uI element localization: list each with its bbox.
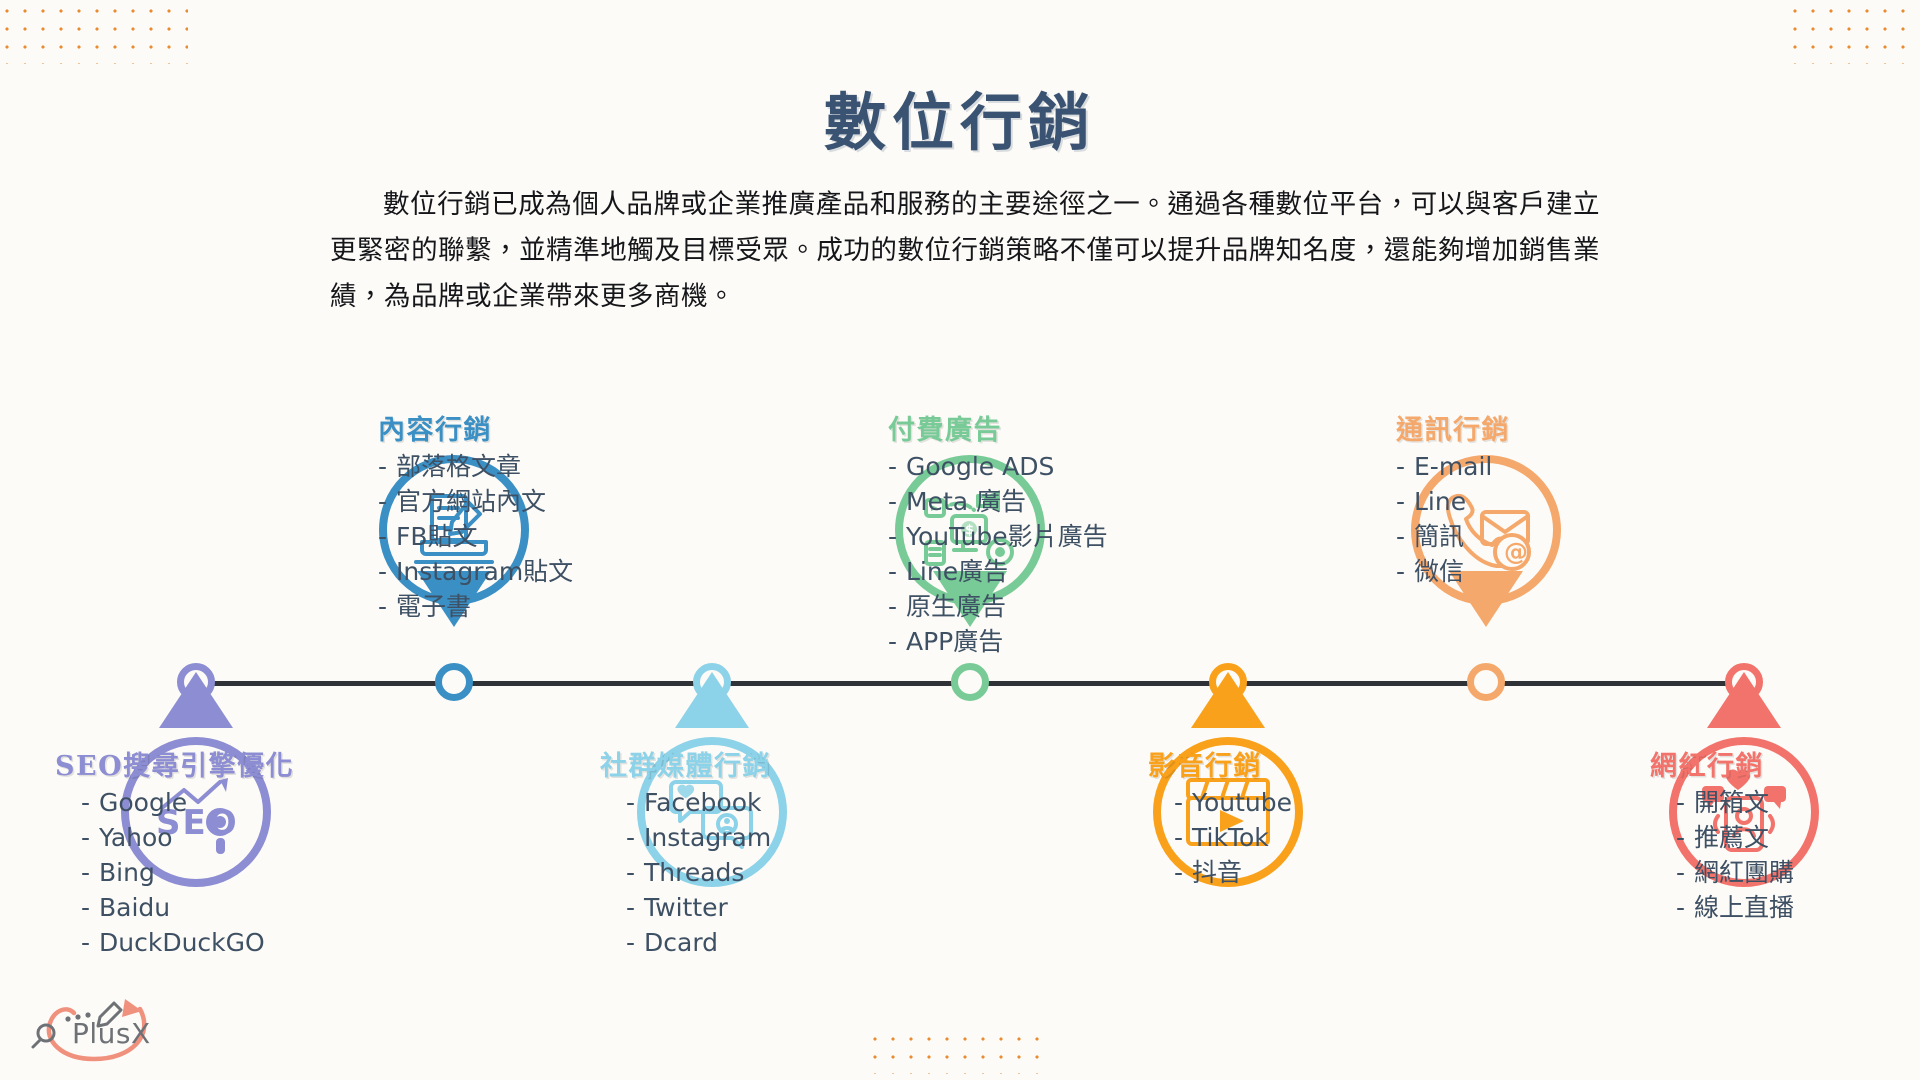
bullet-dash-icon: - [1174,855,1192,890]
bullet-dash-icon: - [81,925,99,960]
list-item: -Bing [81,855,325,890]
list-item: -Yahoo [81,820,325,855]
list-item-label: Instagram [644,823,771,852]
plusx-logo-text: PlusX [72,1017,151,1050]
list-item: -線上直播 [1676,890,1920,925]
list-item: -Google ADS [888,449,1158,484]
list-item: -APP廣告 [888,624,1158,659]
bullet-dash-icon: - [626,890,644,925]
list-item-label: Google ADS [906,452,1054,481]
bullet-dash-icon: - [1676,890,1694,925]
list-item-label: Threads [644,858,744,887]
list-item-label: Baidu [99,893,170,922]
bullet-dash-icon: - [81,820,99,855]
list-item-label: Google [99,788,187,817]
section-list-social: -Facebook-Instagram-Threads-Twitter-Dcar… [600,785,870,960]
list-item: -Meta 廣告 [888,484,1158,519]
list-item-label: Youtube [1192,788,1292,817]
section-list-influencer: -開箱文-推薦文-網紅團購-線上直播 [1650,785,1920,925]
timeline-node-paidads [951,663,989,701]
list-item-label: 推薦文 [1694,823,1769,852]
decorative-dot-grid-top-right [1786,2,1910,64]
list-item: -簡訊 [1396,519,1666,554]
list-item-label: 簡訊 [1414,522,1464,551]
list-item: -官方網站內文 [378,484,648,519]
list-item-label: Instagram貼文 [396,557,573,586]
bullet-dash-icon: - [888,624,906,659]
list-item: -Dcard [626,925,870,960]
list-item-label: Line [1414,487,1466,516]
list-item: -Line [1396,484,1666,519]
bullet-dash-icon: - [626,925,644,960]
list-item: -Line廣告 [888,554,1158,589]
bullet-dash-icon: - [378,484,396,519]
marker-tail-social [675,672,749,728]
bullet-dash-icon: - [81,890,99,925]
section-influencer: 網紅行銷-開箱文-推薦文-網紅團購-線上直播 [1650,744,1920,925]
section-video: 影音行銷-Youtube-TikTok-抖音 [1148,744,1418,890]
bullet-dash-icon: - [626,855,644,890]
list-item-label: 部落格文章 [396,452,521,481]
bullet-dash-icon: - [626,820,644,855]
bullet-dash-icon: - [1174,785,1192,820]
list-item: -微信 [1396,554,1666,589]
bullet-dash-icon: - [1396,554,1414,589]
list-item-label: Meta 廣告 [906,487,1026,516]
list-item-label: Twitter [644,893,728,922]
bullet-dash-icon: - [378,554,396,589]
bullet-dash-icon: - [888,519,906,554]
timeline-node-content [435,663,473,701]
list-item: -原生廣告 [888,589,1158,624]
section-list-content: -部落格文章-官方網站內文-FB貼文-Instagram貼文-電子書 [378,449,648,624]
list-item: -Facebook [626,785,870,820]
list-item-label: Dcard [644,928,718,957]
bullet-dash-icon: - [81,855,99,890]
bullet-dash-icon: - [1676,855,1694,890]
list-item: -YouTube影片廣告 [888,519,1158,554]
list-item: -Instagram貼文 [378,554,648,589]
bullet-dash-icon: - [888,484,906,519]
marker-tail-seo [159,672,233,728]
list-item-label: FB貼文 [396,522,478,551]
bullet-dash-icon: - [1396,484,1414,519]
section-list-video: -Youtube-TikTok-抖音 [1148,785,1418,890]
list-item-label: APP廣告 [906,627,1003,656]
bullet-dash-icon: - [626,785,644,820]
decorative-dot-grid-top-left [0,2,188,64]
bullet-dash-icon: - [888,589,906,624]
list-item: -Youtube [1174,785,1418,820]
section-list-messaging: -E-mail-Line-簡訊-微信 [1396,449,1666,589]
list-item-label: 抖音 [1192,858,1242,887]
list-item: -部落格文章 [378,449,648,484]
page-title: 數位行銷 [0,72,1920,162]
section-title-social: 社群媒體行銷 [600,744,870,783]
section-content: 內容行銷-部落格文章-官方網站內文-FB貼文-Instagram貼文-電子書 [378,408,648,624]
list-item: -Twitter [626,890,870,925]
list-item: -FB貼文 [378,519,648,554]
section-messaging: 通訊行銷-E-mail-Line-簡訊-微信 [1396,408,1666,589]
list-item: -Baidu [81,890,325,925]
section-list-paidads: -Google ADS-Meta 廣告-YouTube影片廣告-Line廣告-原… [888,449,1158,659]
section-title-video: 影音行銷 [1148,744,1418,783]
list-item: -Threads [626,855,870,890]
section-title-influencer: 網紅行銷 [1650,744,1920,783]
list-item-label: E-mail [1414,452,1492,481]
bullet-dash-icon: - [1396,449,1414,484]
list-item: -TikTok [1174,820,1418,855]
list-item-label: Line廣告 [906,557,1008,586]
bullet-dash-icon: - [378,449,396,484]
section-social: 社群媒體行銷-Facebook-Instagram-Threads-Twitte… [600,744,870,960]
section-seo: SEO搜尋引擎優化-Google-Yahoo-Bing-Baidu-DuckDu… [55,744,325,960]
bullet-dash-icon: - [378,589,396,624]
bullet-dash-icon: - [888,449,906,484]
list-item: -電子書 [378,589,648,624]
list-item-label: 開箱文 [1694,788,1769,817]
list-item-label: Bing [99,858,155,887]
plusx-logo: PlusX [22,995,172,1067]
bullet-dash-icon: - [81,785,99,820]
bullet-dash-icon: - [1174,820,1192,855]
intro-paragraph: 數位行銷已成為個人品牌或企業推廣產品和服務的主要途徑之一。通過各種數位平台，可以… [330,182,1600,320]
list-item-label: TikTok [1192,823,1269,852]
list-item-label: Yahoo [99,823,173,852]
list-item-label: 官方網站內文 [396,487,546,516]
list-item-label: 電子書 [396,592,471,621]
bullet-dash-icon: - [1396,519,1414,554]
list-item: -Google [81,785,325,820]
section-title-paidads: 付費廣告 [888,408,1158,447]
section-title-messaging: 通訊行銷 [1396,408,1666,447]
list-item-label: 微信 [1414,557,1464,586]
section-paidads: 付費廣告-Google ADS-Meta 廣告-YouTube影片廣告-Line… [888,408,1158,659]
list-item-label: Facebook [644,788,761,817]
list-item-label: 原生廣告 [906,592,1006,621]
list-item: -抖音 [1174,855,1418,890]
list-item-label: 網紅團購 [1694,858,1794,887]
bullet-dash-icon: - [378,519,396,554]
bullet-dash-icon: - [1676,820,1694,855]
timeline-node-messaging [1467,663,1505,701]
list-item: -Instagram [626,820,870,855]
section-title-content: 內容行銷 [378,408,648,447]
list-item-label: 線上直播 [1694,893,1794,922]
marker-tail-video [1191,672,1265,728]
slide-canvas: 數位行銷 數位行銷已成為個人品牌或企業推廣產品和服務的主要途徑之一。通過各種數位… [0,0,1920,1080]
list-item-label: DuckDuckGO [99,928,265,957]
list-item: -開箱文 [1676,785,1920,820]
list-item-label: YouTube影片廣告 [906,522,1108,551]
list-item: -E-mail [1396,449,1666,484]
decorative-dot-grid-bottom [866,1030,1052,1074]
marker-tail-influencer [1707,672,1781,728]
list-item: -推薦文 [1676,820,1920,855]
bullet-dash-icon: - [888,554,906,589]
list-item: -DuckDuckGO [81,925,325,960]
list-item: -網紅團購 [1676,855,1920,890]
section-list-seo: -Google-Yahoo-Bing-Baidu-DuckDuckGO [55,785,325,960]
section-title-seo: SEO搜尋引擎優化 [55,744,325,783]
bullet-dash-icon: - [1676,785,1694,820]
